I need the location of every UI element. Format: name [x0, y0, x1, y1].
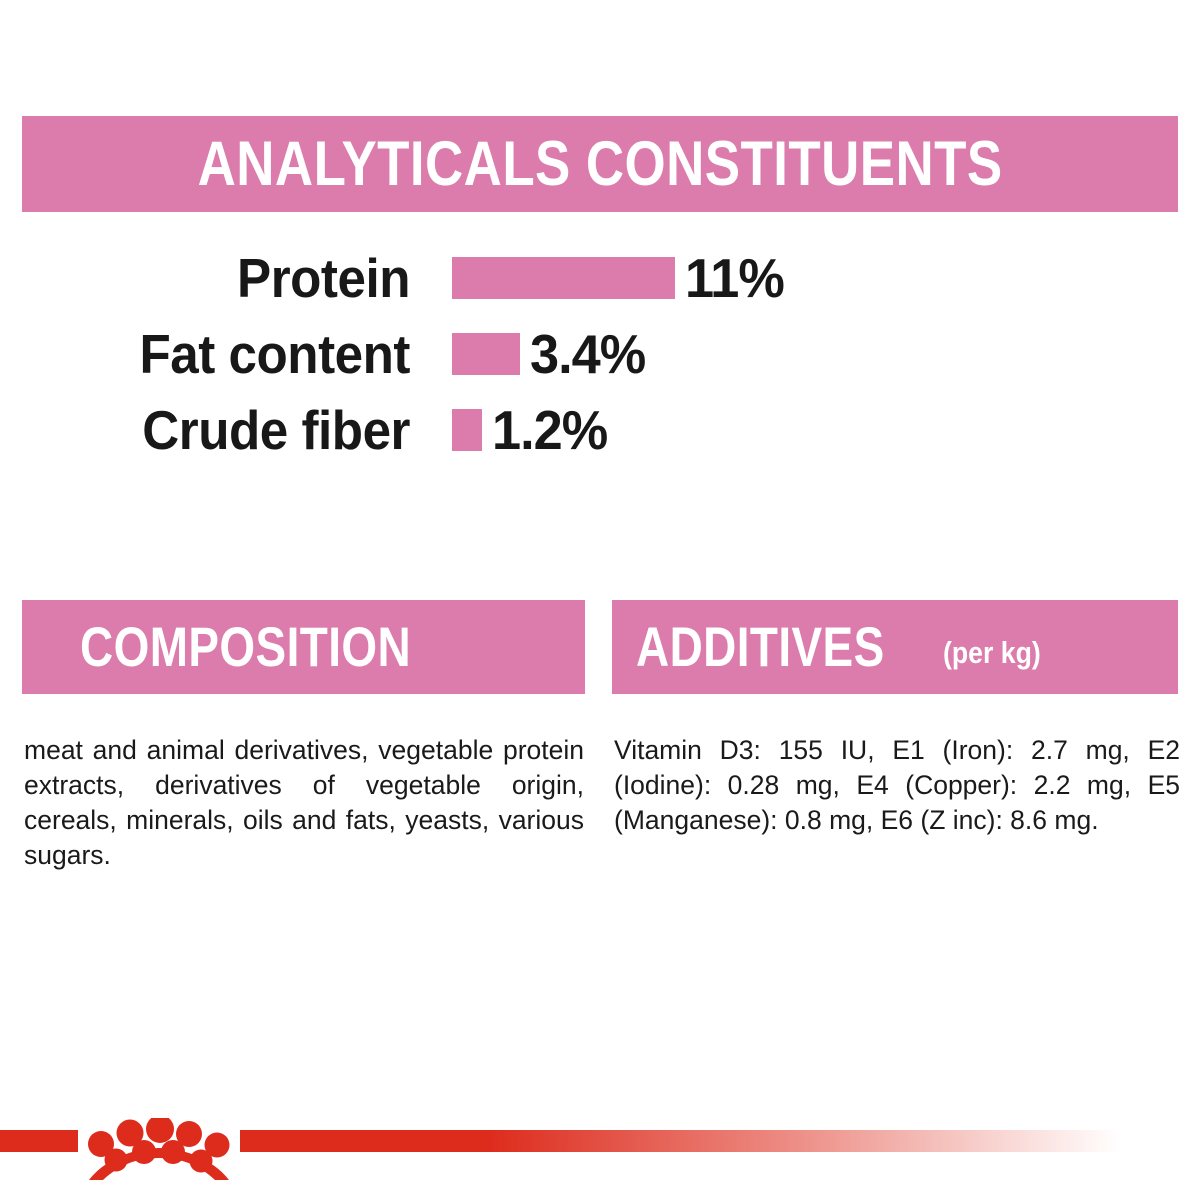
analyticals-constituents-banner: ANALYTICALS CONSTITUENTS: [22, 116, 1178, 212]
additives-heading-suffix: (per kg): [943, 637, 1041, 668]
analytical-row: Fat content 3.4%: [0, 316, 1200, 392]
analytical-bar-wrap-protein: 11%: [452, 251, 789, 306]
footer-rule-left: [0, 1130, 78, 1152]
analytical-bar-fat-content: [452, 333, 520, 375]
analytical-value-protein: 11%: [685, 251, 784, 306]
additives-banner: ADDITIVES (per kg): [612, 600, 1178, 694]
analytical-bar-wrap-crude-fiber: 1.2%: [452, 403, 613, 458]
footer: [0, 1118, 1200, 1188]
additives-heading: ADDITIVES: [636, 619, 885, 675]
analytical-bar-crude-fiber: [452, 409, 482, 451]
analytical-bar-protein: [452, 257, 675, 299]
footer-rule-right: [240, 1130, 1120, 1152]
analytical-value-crude-fiber: 1.2%: [492, 403, 607, 458]
page-title: ANALYTICALS CONSTITUENTS: [198, 133, 1003, 196]
composition-banner: COMPOSITION: [22, 600, 585, 694]
analytical-label-fat-content: Fat content: [29, 327, 410, 382]
composition-heading: COMPOSITION: [80, 619, 411, 675]
royal-canin-crown-logo: [84, 1118, 234, 1180]
composition-text: meat and animal derivatives, vegetable p…: [24, 733, 584, 874]
analytical-value-fat-content: 3.4%: [530, 327, 645, 382]
analytical-row: Crude fiber 1.2%: [0, 392, 1200, 468]
analytical-label-crude-fiber: Crude fiber: [29, 403, 410, 458]
analyticals-constituents-chart: Protein 11% Fat content 3.4% Crude fiber…: [0, 240, 1200, 468]
analytical-label-protein: Protein: [29, 251, 410, 306]
product-info-panel: ANALYTICALS CONSTITUENTS Protein 11% Fat…: [0, 0, 1200, 1200]
additives-text: Vitamin D3: 155 IU, E1 (Iron): 2.7 mg, E…: [614, 733, 1180, 839]
analytical-bar-wrap-fat-content: 3.4%: [452, 327, 651, 382]
analytical-row: Protein 11%: [0, 240, 1200, 316]
